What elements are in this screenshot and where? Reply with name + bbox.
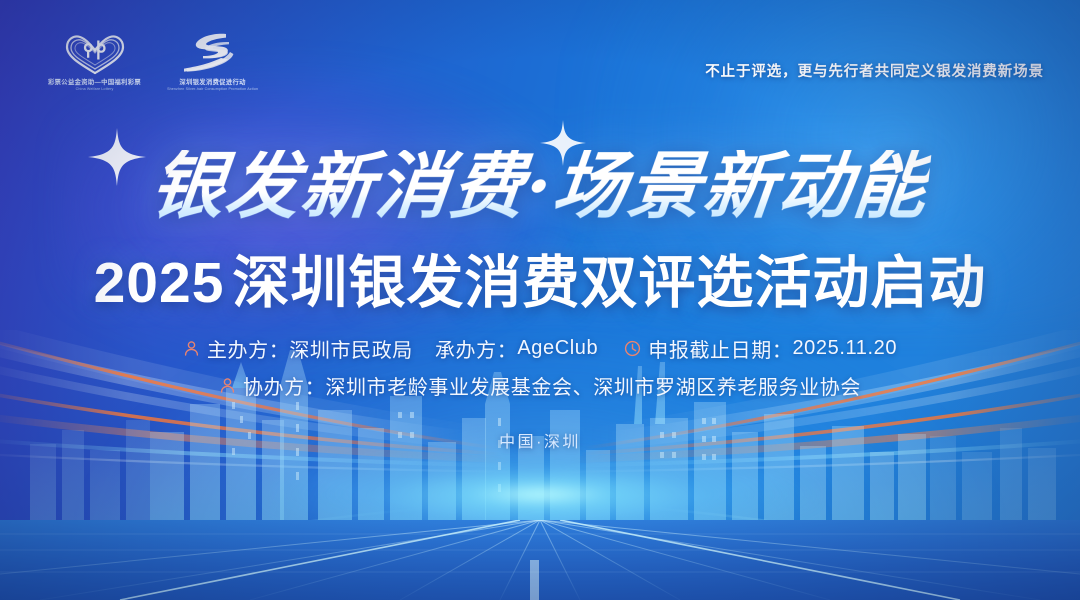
info-deadline-value: 2025.11.20	[792, 337, 897, 360]
horizon-glow-decoration	[260, 448, 820, 528]
logo-caption: 彩票公益金资助—中国福利彩票 China Welfare Lottery	[48, 79, 141, 91]
info-row-organizers: 主办方：深圳市民政局 承办方：AgeClub 申报截止日期：2025.11.20	[0, 334, 1080, 363]
logo-caption: 深圳银发消费促进行动 Shenzhen Silver-hair Consumpt…	[167, 79, 258, 91]
info-host-value: 深圳市民政局	[289, 334, 413, 363]
location-label: 中国·深圳	[0, 428, 1080, 452]
subtitle-year: 2025	[94, 251, 225, 315]
clock-icon	[624, 340, 641, 357]
heart-lottery-icon	[58, 30, 132, 76]
horizon-line-decoration	[0, 521, 1080, 524]
info-block: 主办方：深圳市民政局 承办方：AgeClub 申报截止日期：2025.11.20	[0, 334, 1080, 408]
info-cohost-value: AgeClub	[517, 337, 598, 360]
logo-caption-en: China Welfare Lottery	[48, 87, 141, 91]
info-segment-co-host: 承办方：AgeClub	[435, 334, 598, 363]
china-welfare-lottery-logo: 彩票公益金资助—中国福利彩票 China Welfare Lottery	[48, 30, 141, 91]
main-slogan: 银发新消费·场景新动能	[147, 150, 932, 223]
info-deadline-label: 申报截止日期：	[648, 334, 792, 363]
wave-s-icon	[182, 30, 244, 76]
info-host-label: 主办方：	[207, 334, 289, 363]
perspective-floor-decoration	[0, 520, 1080, 600]
subtitle-container: 2025深圳银发消费双评选活动启动	[0, 254, 1080, 314]
info-cohost-label: 承办方：	[435, 334, 517, 363]
info-row-supporters: 协办方：深圳市老龄事业发展基金会、深圳市罗湖区养老服务业协会	[0, 371, 1080, 400]
subtitle-text: 深圳银发消费双评选活动启动	[232, 251, 986, 315]
info-supporter-value: 深圳市老龄事业发展基金会、深圳市罗湖区养老服务业协会	[325, 371, 861, 400]
person-icon	[183, 340, 200, 357]
info-segment-deadline: 申报截止日期：2025.11.20	[624, 334, 897, 363]
info-segment-supporter: 协办方：深圳市老龄事业发展基金会、深圳市罗湖区养老服务业协会	[219, 371, 861, 400]
info-segment-host: 主办方：深圳市民政局	[183, 334, 413, 363]
sparkle-star-icon	[88, 128, 146, 191]
shenzhen-silver-consumption-logo: 深圳银发消费促进行动 Shenzhen Silver-hair Consumpt…	[167, 30, 258, 91]
logo-caption-en: Shenzhen Silver-hair Consumption Promoti…	[167, 87, 258, 91]
subtitle: 2025深圳银发消费双评选活动启动	[94, 254, 987, 314]
promo-banner: 彩票公益金资助—中国福利彩票 China Welfare Lottery 深圳银…	[0, 0, 1080, 600]
tagline: 不止于评选，更与先行者共同定义银发消费新场景	[705, 60, 1044, 81]
person-icon	[219, 377, 236, 394]
slogan-container: 银发新消费·场景新动能	[0, 150, 1080, 223]
info-supporter-label: 协办方：	[243, 371, 325, 400]
logo-group: 彩票公益金资助—中国福利彩票 China Welfare Lottery 深圳银…	[48, 30, 258, 91]
